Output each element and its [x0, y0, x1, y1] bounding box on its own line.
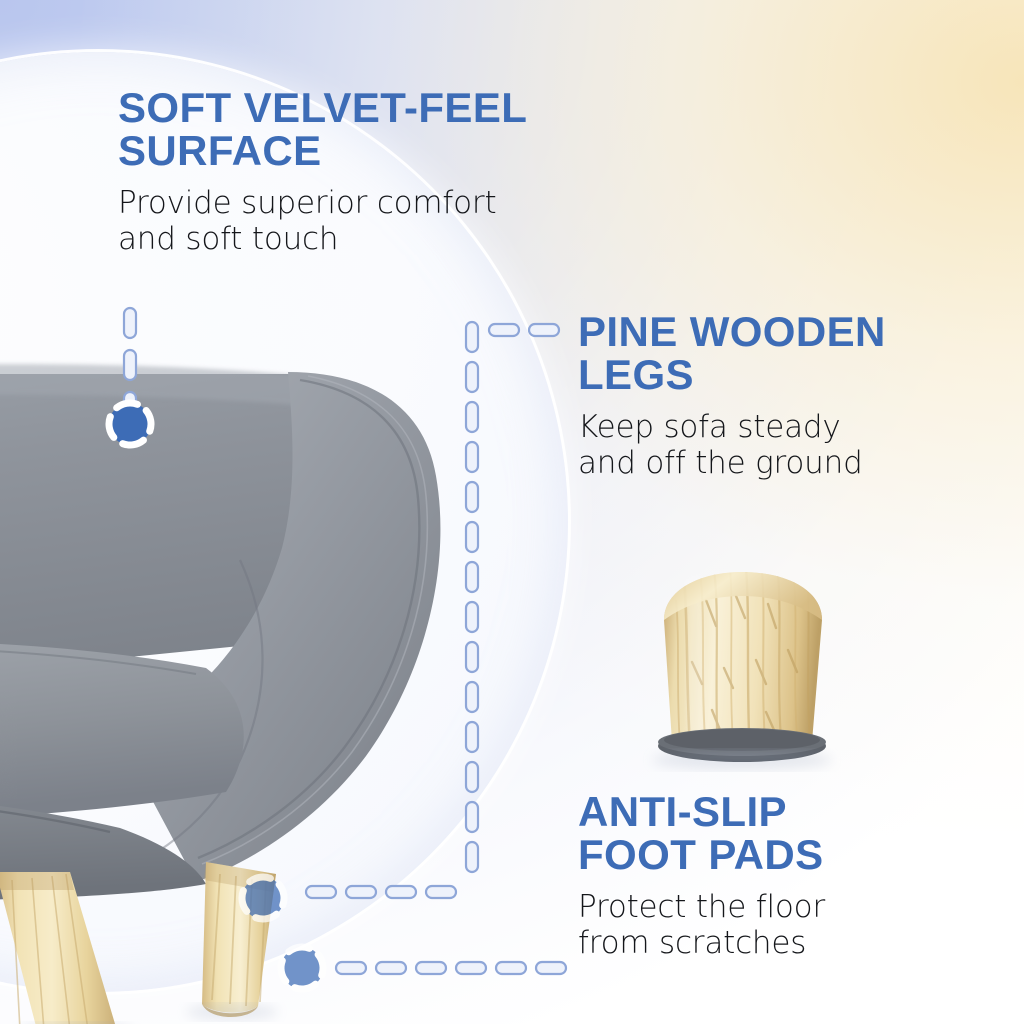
body-line: from scratches	[578, 925, 806, 961]
feature-body-legs: Keep sofa steady and off the ground	[578, 409, 1008, 482]
dashed-line-icon	[336, 962, 566, 974]
feature-block-legs: PINE WOODEN LEGS Keep sofa steady and of…	[578, 310, 1008, 482]
feature-heading-legs: PINE WOODEN LEGS	[578, 310, 1008, 397]
feature-block-velvet: SOFT VELVET-FEEL SURFACE Provide superio…	[118, 86, 718, 258]
feature-heading-pads: ANTI-SLIP FOOT PADS	[578, 790, 1008, 877]
body-line: Keep sofa steady	[578, 409, 841, 445]
heading-line: FOOT PADS	[578, 831, 824, 878]
body-line: and off the ground	[578, 445, 863, 481]
body-line: and soft touch	[118, 221, 338, 257]
heading-line: LEGS	[578, 351, 694, 398]
infographic-canvas: SOFT VELVET-FEEL SURFACE Provide superio…	[0, 0, 1024, 1024]
heading-line: SOFT VELVET-FEEL	[118, 84, 527, 131]
feature-body-pads: Protect the floor from scratches	[578, 889, 1008, 962]
feature-block-pads: ANTI-SLIP FOOT PADS Protect the floor fr…	[578, 790, 1008, 962]
heading-line: ANTI-SLIP	[578, 788, 787, 835]
heading-line: PINE WOODEN	[578, 308, 886, 355]
body-line: Provide superior comfort	[118, 185, 496, 221]
feature-heading-velvet: SOFT VELVET-FEEL SURFACE	[118, 86, 718, 173]
body-line: Protect the floor	[578, 889, 825, 925]
feature-body-velvet: Provide superior comfort and soft touch	[118, 185, 718, 258]
heading-line: SURFACE	[118, 127, 322, 174]
